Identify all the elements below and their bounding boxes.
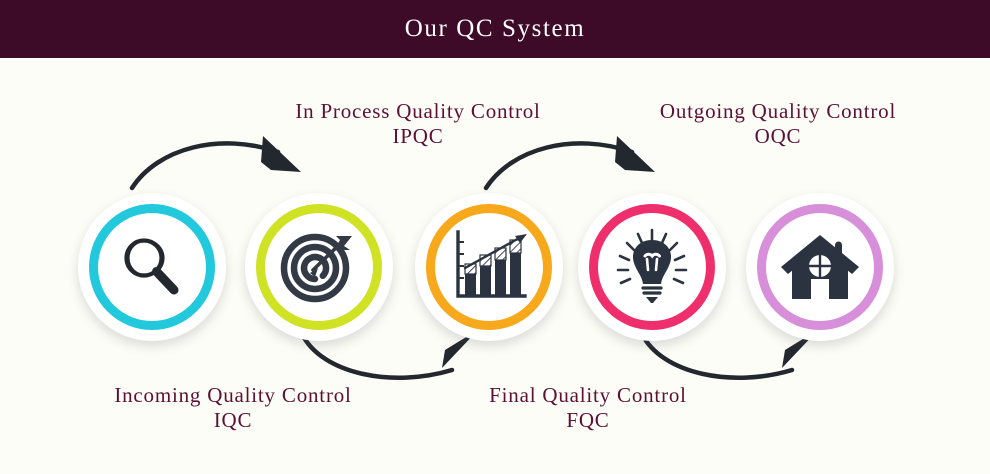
qc-system-infographic: Our QC System	[0, 0, 990, 474]
stage-node-delivery[interactable]	[746, 193, 894, 341]
stage-label-fqc-line1: Final Quality Control	[423, 383, 753, 408]
stage-label-ipqc-line2: IPQC	[258, 124, 578, 149]
stage-label-oqc-line1: Outgoing Quality Control	[618, 99, 938, 124]
stage-node-ipqc[interactable]	[245, 193, 393, 341]
stage-node-fqc[interactable]	[415, 193, 563, 341]
stage-node-iqc[interactable]	[78, 193, 226, 341]
house-icon	[774, 221, 866, 313]
stage-label-iqc-line1: Incoming Quality Control	[68, 383, 398, 408]
stage-label-fqc-line2: FQC	[423, 408, 753, 433]
page-title: Our QC System	[0, 0, 990, 58]
stage-node-oqc[interactable]	[578, 193, 726, 341]
lightbulb-idea-icon	[606, 221, 698, 313]
diagram-stage: In Process Quality Control IPQC Outgoing…	[0, 58, 990, 474]
bar-chart-growth-icon	[443, 221, 535, 313]
stage-label-oqc: Outgoing Quality Control OQC	[618, 99, 938, 149]
stage-label-fqc: Final Quality Control FQC	[423, 383, 753, 433]
stage-label-ipqc: In Process Quality Control IPQC	[258, 99, 578, 149]
stage-label-iqc-line2: IQC	[68, 408, 398, 433]
magnifier-icon	[106, 221, 198, 313]
target-dart-icon	[273, 221, 365, 313]
stage-label-oqc-line2: OQC	[618, 124, 938, 149]
stage-label-ipqc-line1: In Process Quality Control	[258, 99, 578, 124]
stage-label-iqc: Incoming Quality Control IQC	[68, 383, 398, 433]
